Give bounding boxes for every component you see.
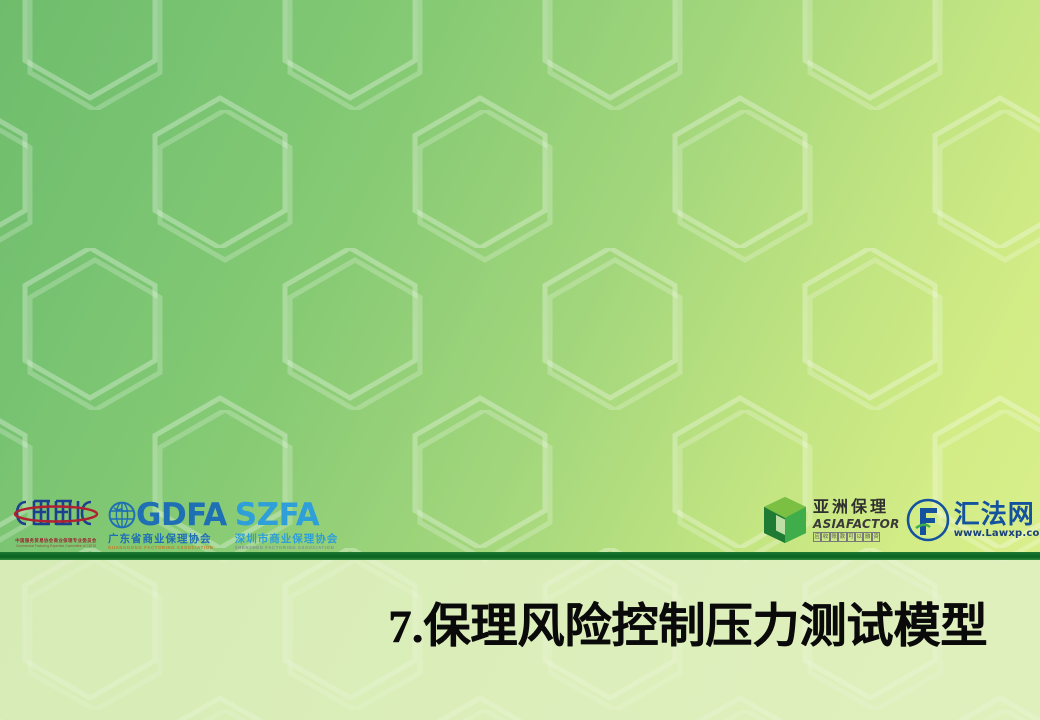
section-divider-bar xyxy=(0,552,1040,560)
szfa-name-cn: 深圳市商业保理协会 xyxy=(235,533,339,545)
cfec-name-en: Commercial Factoring Expertise Committee… xyxy=(12,544,100,549)
slogan-char: 资 xyxy=(872,532,880,542)
hexagon-pattern xyxy=(0,0,1040,553)
lawxp-url[interactable]: www.Lawxp.com xyxy=(954,528,1040,540)
cfec-monogram-icon xyxy=(12,493,100,533)
logo-strip-left: 中国服务贸易协会商业保理专业委员会 Commercial Factoring E… xyxy=(12,487,338,551)
slide-title: 7.保理风险控制压力测试模型 xyxy=(388,598,1018,656)
lawxp-name-cn: 汇法网 xyxy=(954,500,1040,528)
slide-background-upper xyxy=(0,0,1040,553)
globe-icon xyxy=(108,500,136,530)
asiafactor-slogan: 应 收 账 款 可 以 融 资 xyxy=(813,532,900,542)
logo-cfec[interactable]: 中国服务贸易协会商业保理专业委员会 Commercial Factoring E… xyxy=(12,493,100,551)
gdfa-acronym: GDFA xyxy=(136,500,227,531)
slogan-char: 应 xyxy=(813,532,821,542)
slogan-char: 账 xyxy=(830,532,838,542)
presentation-slide: 中国服务贸易协会商业保理专业委员会 Commercial Factoring E… xyxy=(0,0,1040,720)
gdfa-name-en: GUANGDONG FACTORING ASSOCIATION xyxy=(108,545,227,551)
green-cube-icon xyxy=(762,495,808,545)
slogan-char: 收 xyxy=(821,532,829,542)
szfa-acronym: SZFA xyxy=(235,500,319,531)
slogan-char: 可 xyxy=(847,532,855,542)
logo-asiafactor[interactable]: 亚洲保理 ASIAFACTOR 应 收 账 款 可 以 融 资 xyxy=(762,492,900,548)
slogan-char: 款 xyxy=(838,532,846,542)
asiafactor-name-cn: 亚洲保理 xyxy=(813,499,900,517)
logo-gdfa[interactable]: GDFA 广东省商业保理协会 GUANGDONG FACTORING ASSOC… xyxy=(108,493,227,551)
logo-strip-right: 亚洲保理 ASIAFACTOR 应 收 账 款 可 以 融 资 xyxy=(762,490,1040,550)
lawxp-f-circle-icon xyxy=(906,498,950,542)
asiafactor-name-en: ASIAFACTOR xyxy=(813,517,900,531)
logo-lawxp[interactable]: 汇法网 www.Lawxp.com xyxy=(906,492,1040,548)
gdfa-name-cn: 广东省商业保理协会 xyxy=(108,533,227,545)
szfa-name-en: SHENZHEN FACTORING ASSOCIATION xyxy=(235,545,339,551)
slogan-char: 融 xyxy=(863,532,871,542)
logo-szfa[interactable]: SZFA 深圳市商业保理协会 SHENZHEN FACTORING ASSOCI… xyxy=(235,493,339,551)
slogan-char: 以 xyxy=(855,532,863,542)
